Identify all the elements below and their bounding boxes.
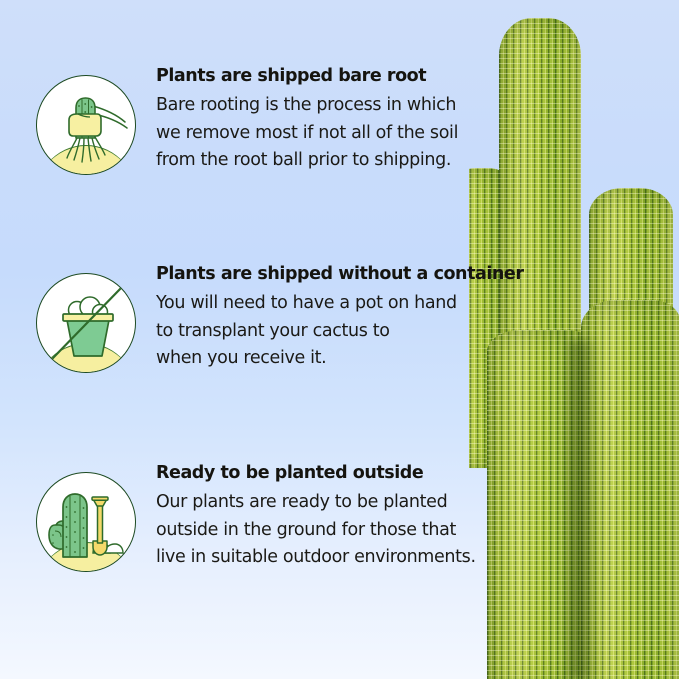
plant-outside-icon — [36, 472, 136, 572]
row-body: You will need to have a pot on hand to t… — [156, 290, 516, 373]
bare-root-cactus-artwork — [37, 76, 135, 174]
plant-pot-artwork — [37, 274, 135, 372]
body-line: You will need to have a pot on hand — [156, 290, 516, 318]
body-line: we remove most if not all of the soil — [156, 120, 516, 148]
info-row-bare-root: Plants are shipped bare root Bare rootin… — [0, 66, 516, 175]
body-line: live in suitable outdoor environments. — [156, 544, 516, 572]
no-container-icon — [36, 273, 136, 373]
cactus-trunk-shadow — [569, 340, 599, 679]
row-body: Bare rooting is the process in which we … — [156, 92, 516, 175]
bare-root-cactus-icon — [36, 75, 136, 175]
info-row-no-container: Plants are shipped without a container Y… — [0, 264, 516, 373]
row-heading: Plants are shipped without a container — [156, 264, 516, 284]
no-container-text-block: Plants are shipped without a container Y… — [156, 264, 516, 373]
cactus-and-shovel-artwork — [37, 473, 135, 571]
body-line: outside in the ground for those that — [156, 517, 516, 545]
body-line: when you receive it. — [156, 345, 516, 373]
row-heading: Ready to be planted outside — [156, 463, 516, 483]
row-heading: Plants are shipped bare root — [156, 66, 516, 86]
info-row-plant-outside: Ready to be planted outside Our plants a… — [0, 463, 516, 572]
plant-outside-text-block: Ready to be planted outside Our plants a… — [156, 463, 516, 572]
row-body: Our plants are ready to be planted outsi… — [156, 489, 516, 572]
infographic-container: Plants are shipped bare root Bare rootin… — [0, 0, 679, 679]
body-line: from the root ball prior to shipping. — [156, 147, 516, 175]
body-line: Bare rooting is the process in which — [156, 92, 516, 120]
bare-root-text-block: Plants are shipped bare root Bare rootin… — [156, 66, 516, 175]
body-line: Our plants are ready to be planted — [156, 489, 516, 517]
body-line: to transplant your cactus to — [156, 318, 516, 346]
